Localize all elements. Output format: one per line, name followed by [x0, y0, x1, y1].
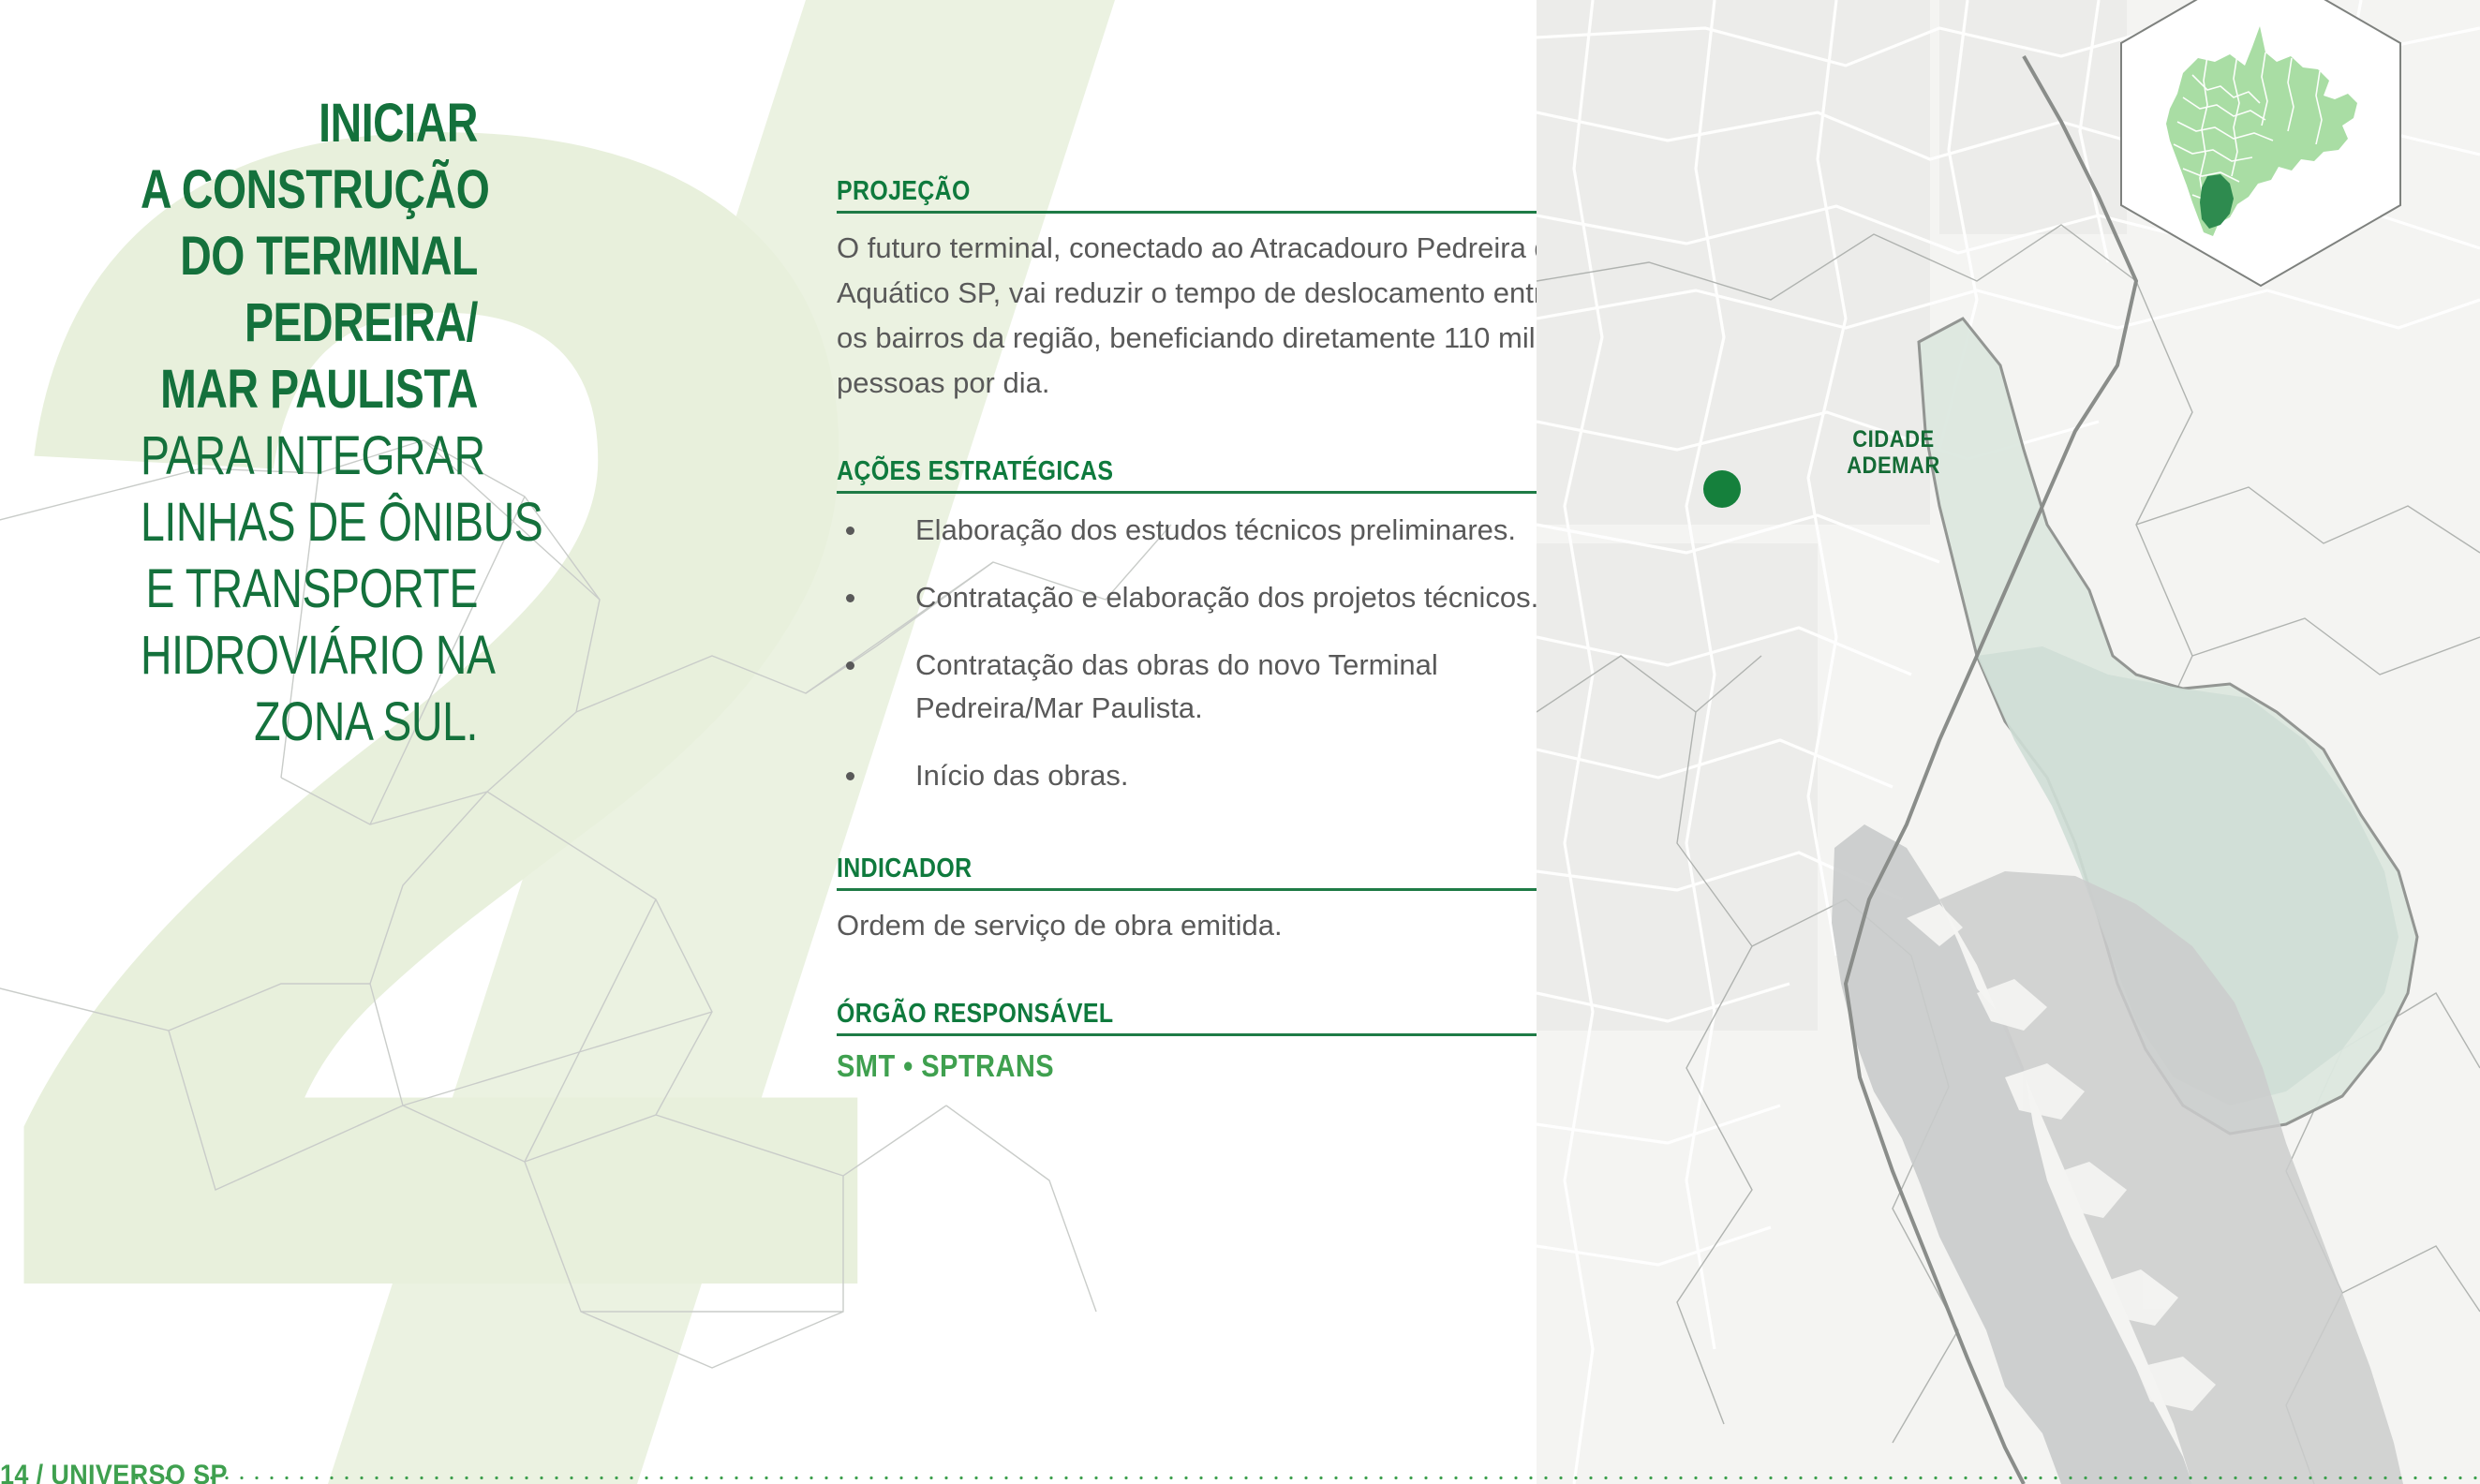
headline-line-1: INICIAR	[141, 90, 478, 156]
bullet-dot-icon	[846, 594, 854, 602]
list-item-text: Elaboração dos estudos técnicos prelimin…	[915, 513, 1516, 546]
section-heading-projecao: PROJEÇÃO	[837, 176, 1465, 206]
section-rule-indicador	[837, 888, 1567, 891]
spacer	[837, 822, 1567, 853]
headline-line-3: DO TERMINAL	[141, 223, 478, 289]
headline-line-5: MAR PAULISTA	[141, 356, 478, 423]
section-projecao: PROJEÇÃO O futuro terminal, conectado ao…	[837, 176, 1567, 406]
headline-line-8: E TRANSPORTE	[141, 556, 478, 622]
spacer	[837, 411, 1567, 456]
headline-line-4: PEDREIRA/	[141, 289, 478, 356]
section-heading-acoes: AÇÕES ESTRATÉGICAS	[837, 456, 1465, 486]
info-column: PROJEÇÃO O futuro terminal, conectado ao…	[837, 176, 1567, 1090]
section-body-indicador: Ordem de serviço de obra emitida.	[837, 903, 1567, 948]
headline-line-10: ZONA SUL.	[141, 689, 478, 755]
map-canvas	[1537, 0, 2480, 1484]
bullet-dot-icon	[846, 527, 854, 535]
headline-line-6: PARA INTEGRAR	[141, 423, 478, 489]
spacer	[837, 954, 1567, 999]
headline-line-9: HIDROVIÁRIO NA	[141, 622, 478, 689]
footer-dotted-rule	[129, 1476, 2480, 1480]
section-acoes: AÇÕES ESTRATÉGICAS Elaboração dos estudo…	[837, 456, 1567, 797]
section-body-projecao: O futuro terminal, conectado ao Atracado…	[837, 226, 1567, 406]
district-label-line-1: CIDADE	[1811, 426, 1976, 453]
infographic-page: 21	[0, 0, 2480, 1484]
list-item-text: Contratação e elaboração dos projetos té…	[915, 581, 1538, 614]
list-item-text: Início das obras.	[915, 759, 1128, 792]
list-item: Elaboração dos estudos técnicos prelimin…	[837, 509, 1567, 552]
section-orgao: ÓRGÃO RESPONSÁVEL SMT • SPTRANS	[837, 999, 1567, 1084]
section-heading-orgao: ÓRGÃO RESPONSÁVEL	[837, 999, 1465, 1029]
headline-line-2: A CONSTRUÇÃO	[141, 156, 478, 223]
page-title: INICIAR A CONSTRUÇÃO DO TERMINAL PEDREIR…	[56, 90, 478, 755]
headline-line-7: LINHAS DE ÔNIBUS	[141, 489, 478, 556]
section-heading-indicador: INDICADOR	[837, 853, 1465, 883]
page-footer: 14 / UNIVERSO SP	[0, 1445, 2480, 1484]
responsible-agency-value: SMT • SPTRANS	[837, 1048, 1479, 1084]
list-item: Contratação das obras do novo Terminal P…	[837, 644, 1567, 730]
bullet-dot-icon	[846, 772, 854, 780]
list-item-text: Contratação das obras do novo Terminal P…	[915, 648, 1438, 724]
section-indicador: INDICADOR Ordem de serviço de obra emiti…	[837, 853, 1567, 948]
location-marker-icon[interactable]	[1703, 470, 1741, 508]
list-item: Início das obras.	[837, 754, 1567, 797]
section-rule-orgao	[837, 1033, 1567, 1036]
list-item: Contratação e elaboração dos projetos té…	[837, 576, 1567, 619]
district-label-line-2: ADEMAR	[1811, 453, 1976, 479]
location-map[interactable]: CIDADE ADEMAR	[1537, 0, 2480, 1484]
strategic-actions-list: Elaboração dos estudos técnicos prelimin…	[837, 509, 1567, 797]
bullet-dot-icon	[846, 661, 854, 670]
footer-page-number: 14 / UNIVERSO SP	[0, 1460, 228, 1484]
section-rule-projecao	[837, 211, 1567, 214]
section-rule-acoes	[837, 491, 1567, 494]
district-label: CIDADE ADEMAR	[1811, 426, 1976, 479]
